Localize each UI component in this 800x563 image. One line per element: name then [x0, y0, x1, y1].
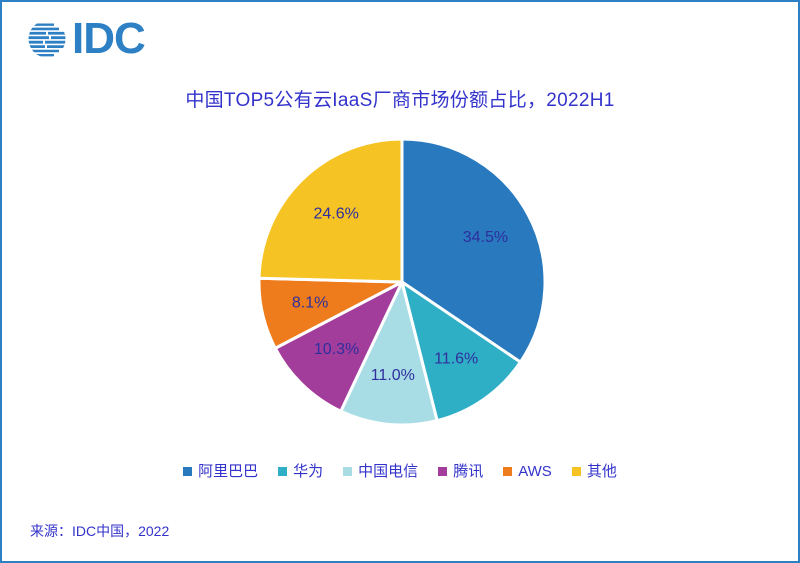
idc-globe-icon — [24, 16, 70, 62]
chart-title: 中国TOP5公有云IaaS厂商市场份额占比，2022H1 — [2, 85, 798, 112]
legend-label: 中国电信 — [358, 464, 418, 479]
legend-item[interactable]: 其他 — [572, 464, 617, 479]
legend-item[interactable]: 腾讯 — [438, 464, 483, 479]
legend-item[interactable]: AWS — [503, 464, 552, 479]
legend-item[interactable]: 阿里巴巴 — [183, 464, 258, 479]
legend-label: 其他 — [587, 464, 617, 479]
legend-label: AWS — [518, 464, 552, 479]
idc-logo-text: IDC — [72, 16, 145, 62]
chart-page: IDC 中国TOP5公有云IaaS厂商市场份额占比，2022H1 34.5%11… — [0, 0, 800, 563]
legend-label: 腾讯 — [453, 464, 483, 479]
legend-item[interactable]: 华为 — [278, 464, 323, 479]
legend-swatch-icon — [503, 467, 512, 476]
pie-chart: 34.5%11.6%11.0%10.3%8.1%24.6% — [2, 132, 800, 437]
chart-legend: 阿里巴巴华为中国电信腾讯AWS其他 — [2, 464, 798, 479]
pie-slice-label: 11.6% — [434, 351, 478, 368]
legend-swatch-icon — [438, 467, 447, 476]
pie-chart-svg: 34.5%11.6%11.0%10.3%8.1%24.6% — [242, 132, 562, 437]
legend-swatch-icon — [183, 467, 192, 476]
legend-label: 华为 — [293, 464, 323, 479]
idc-logo: IDC — [24, 16, 145, 62]
legend-item[interactable]: 中国电信 — [343, 464, 418, 479]
pie-slice-label: 10.3% — [314, 341, 359, 358]
legend-label: 阿里巴巴 — [198, 464, 258, 479]
pie-slice-label: 11.0% — [371, 367, 415, 384]
legend-swatch-icon — [572, 467, 581, 476]
source-note: 来源：IDC中国，2022 — [30, 521, 169, 541]
pie-slice-label: 34.5% — [463, 229, 508, 246]
legend-swatch-icon — [343, 467, 352, 476]
legend-swatch-icon — [278, 467, 287, 476]
pie-slice-label: 8.1% — [292, 295, 328, 312]
pie-slice-label: 24.6% — [314, 206, 359, 223]
